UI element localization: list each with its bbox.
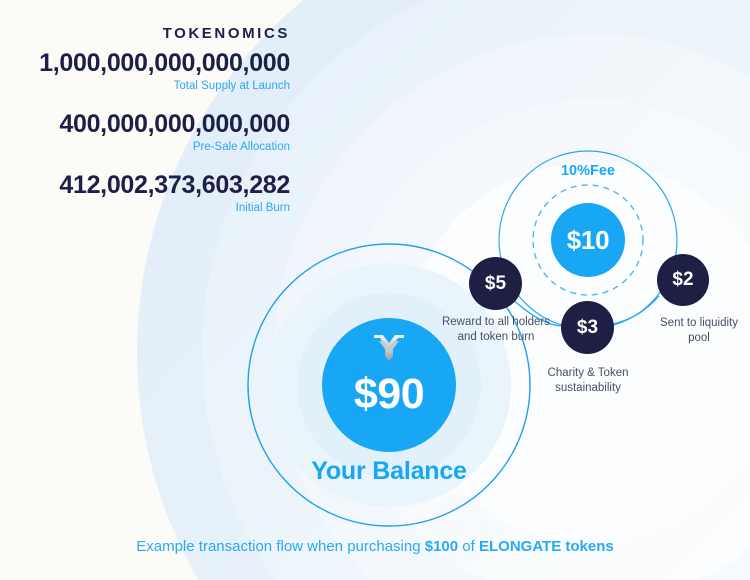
stat-value: 412,002,373,603,282 — [0, 172, 290, 199]
balance-amount: $90 — [354, 373, 424, 416]
tokenomics-infographic: TOKENOMICS 1,000,000,000,000,000 Total S… — [0, 0, 750, 580]
fee-node: $10 — [551, 203, 625, 277]
split-desc-charity: Charity & Token sustainability — [528, 366, 648, 397]
footer-prefix: Example transaction flow when purchasing — [136, 538, 425, 555]
footer-caption: Example transaction flow when purchasing… — [0, 538, 750, 555]
stat-presale-allocation: 400,000,000,000,000 Pre-Sale Allocation — [0, 111, 290, 155]
fee-label: 10%Fee — [523, 163, 653, 179]
split-node-liquidity: $2 — [657, 254, 709, 306]
split-node-reward: $5 — [469, 257, 522, 310]
stat-label: Initial Burn — [0, 202, 290, 216]
balance-caption: Your Balance — [264, 457, 514, 486]
footer-amount: $100 — [425, 538, 458, 555]
footer-middle: of — [458, 538, 479, 555]
stat-label: Total Supply at Launch — [0, 80, 290, 94]
stat-value: 400,000,000,000,000 — [0, 111, 290, 138]
stat-label: Pre-Sale Allocation — [0, 141, 290, 155]
stat-initial-burn: 412,002,373,603,282 Initial Burn — [0, 172, 290, 216]
split-desc-reward: Reward to all holders and token burn — [435, 315, 557, 346]
footer-token: ELONGATE tokens — [479, 538, 614, 555]
stat-total-supply: 1,000,000,000,000,000 Total Supply at La… — [0, 50, 290, 94]
tokenomics-title: TOKENOMICS — [0, 26, 290, 41]
stat-value: 1,000,000,000,000,000 — [0, 50, 290, 77]
split-node-charity: $3 — [561, 301, 614, 354]
tokenomics-panel: TOKENOMICS 1,000,000,000,000,000 Total S… — [0, 26, 290, 215]
elongate-logo-icon — [370, 332, 408, 364]
split-desc-liquidity: Sent to liquidity pool — [652, 316, 746, 347]
